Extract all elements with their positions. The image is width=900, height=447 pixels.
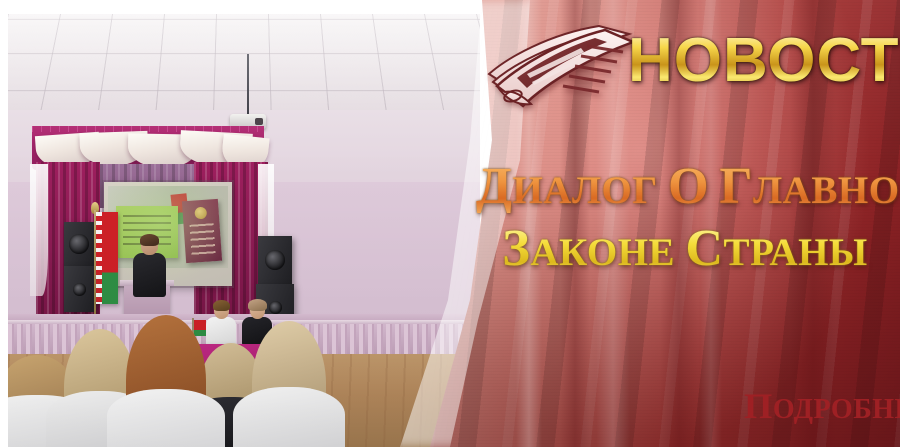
headline-line-1-wrap: ДИАЛОГ О ГЛАВНОМ ДИАЛОГ О ГЛАВНОМ [470,160,900,213]
person-hair [248,299,267,311]
headline-line-2: ЗАКОНЕ СТРАНЫ [470,222,900,275]
presenter-hair [140,234,159,246]
headline-line-1: ДИАЛОГ О ГЛАВНОМ [476,160,900,213]
speaker-cone [265,250,285,270]
speaker-cone [69,234,89,254]
presenter-at-podium [132,236,166,294]
person-body [206,317,236,345]
loudspeaker-right-upper [258,236,292,284]
desk-belarus-flag [194,320,206,336]
sheer-drape-left [30,164,48,296]
loudspeaker-left-upper [64,222,94,266]
projection-screen [104,182,232,286]
audience-torso [233,387,345,447]
person-hair [213,300,230,311]
speaker-cone [73,283,86,296]
presenter-body [133,253,166,297]
more-link[interactable]: ПОДРОБНЕЕ... [744,388,900,424]
presidium-person-left [206,302,236,342]
audience-head [252,321,326,447]
screen-glare [104,182,232,286]
newspaper-icon [483,12,635,116]
headline-line-2-wrap: ЗАКОНЕ СТРАНЫ ЗАКОНЕ СТРАНЫ [470,222,900,275]
section-label: НОВОСТИ [628,30,900,92]
news-photo [0,0,500,447]
photo-scene [8,14,480,447]
loudspeaker-left-lower [64,266,94,312]
headline[interactable]: ДИАЛОГ О ГЛАВНОМ ДИАЛОГ О ГЛАВНОМ ЗАКОНЕ… [470,160,900,276]
news-banner: НОВОСТИ НОВОСТИ ДИАЛОГ О ГЛАВНОМ ДИАЛОГ … [0,0,900,447]
projector-lens [255,118,263,125]
audience-torso [107,389,225,447]
flag-ornament-stripe [96,212,102,304]
audience-head [126,315,206,447]
projector-mount-rod [247,54,249,116]
